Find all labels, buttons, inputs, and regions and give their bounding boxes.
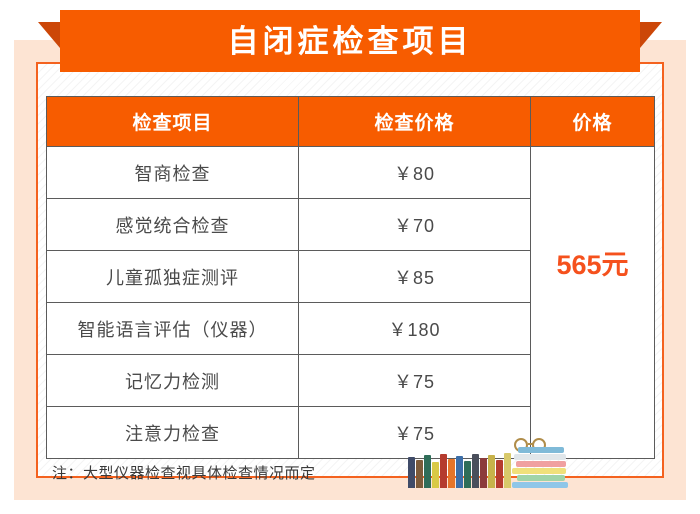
cell-price: ￥180 [299, 303, 531, 355]
cell-item: 智商检查 [47, 147, 299, 199]
cell-price: ￥70 [299, 199, 531, 251]
page-title: 自闭症检查项目 [228, 26, 473, 57]
ribbon-body: 自闭症检查项目 [60, 10, 640, 72]
exam-price-table: 检查项目 检查价格 价格 智商检查 ￥80 565元 [46, 96, 655, 459]
column-header-price: 检查价格 [299, 97, 531, 147]
footer-note: 注：大型仪器检查视具体检查情况而定 [52, 462, 316, 483]
column-header-total: 价格 [531, 97, 655, 147]
column-header-item: 检查项目 [47, 97, 299, 147]
total-price-value: 565元 [531, 243, 654, 282]
book-stack [512, 446, 570, 488]
cell-total-price: 565元 [531, 147, 655, 459]
cell-item: 注意力检查 [47, 407, 299, 459]
books-illustration-icon [408, 448, 576, 488]
cell-item: 儿童孤独症测评 [47, 251, 299, 303]
cell-price: ￥85 [299, 251, 531, 303]
title-ribbon: 自闭症检查项目 [38, 10, 662, 72]
ribbon-fold-left-icon [38, 22, 60, 48]
cell-item: 记忆力检测 [47, 355, 299, 407]
poster-canvas: 自闭症检查项目 检查项目 检查价格 价格 智商检查 ￥80 565元 [0, 0, 700, 514]
ribbon-fold-right-icon [640, 22, 662, 48]
cell-item: 感觉统合检查 [47, 199, 299, 251]
cell-price: ￥80 [299, 147, 531, 199]
table-header-row: 检查项目 检查价格 价格 [47, 97, 655, 147]
cell-price: ￥75 [299, 355, 531, 407]
table-row: 智商检查 ￥80 565元 [47, 147, 655, 199]
cell-item: 智能语言评估（仪器） [47, 303, 299, 355]
